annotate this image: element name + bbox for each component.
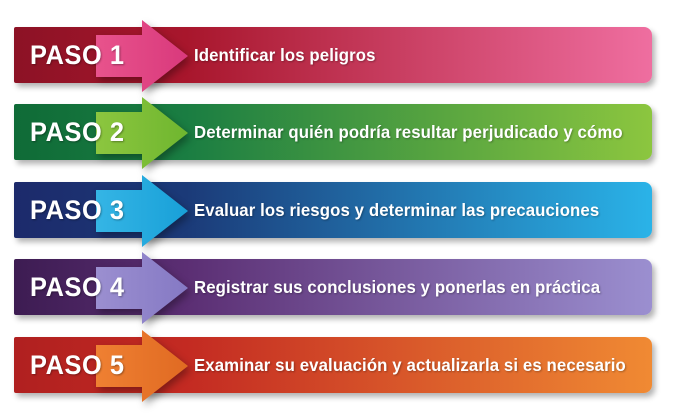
step-row: PASO 2Determinar quién podría resultar p… xyxy=(0,94,684,172)
step-number-label: PASO 1 xyxy=(30,27,125,83)
step-description-text: Identificar los peligros xyxy=(194,27,376,83)
step-description-text: Evaluar los riesgos y determinar las pre… xyxy=(194,182,599,238)
step-row: PASO 5Examinar su evaluación y actualiza… xyxy=(0,327,684,405)
step-number-label: PASO 3 xyxy=(30,182,125,238)
step-row: PASO 1Identificar los peligros xyxy=(0,17,684,95)
step-description-text: Registrar sus conclusiones y ponerlas en… xyxy=(194,259,600,315)
step-number-label: PASO 5 xyxy=(30,337,125,393)
step-row: PASO 4Registrar sus conclusiones y poner… xyxy=(0,249,684,327)
step-number-label: PASO 4 xyxy=(30,259,125,315)
step-description-text: Examinar su evaluación y actualizarla si… xyxy=(194,337,626,393)
step-description-text: Determinar quién podría resultar perjudi… xyxy=(194,104,623,160)
five-steps-diagram: PASO 1Identificar los peligrosPASO 2Dete… xyxy=(0,0,684,420)
step-row: PASO 3Evaluar los riesgos y determinar l… xyxy=(0,172,684,250)
step-number-label: PASO 2 xyxy=(30,104,125,160)
